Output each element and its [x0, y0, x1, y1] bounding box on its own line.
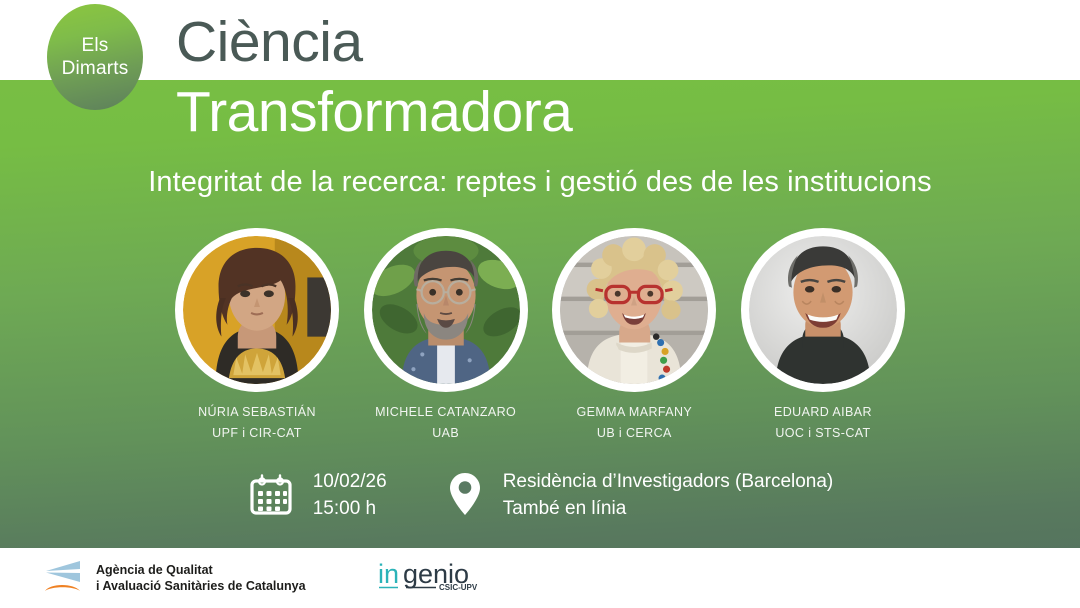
aquas-line-2: i Avaluació Sanitàries de Catalunya: [96, 578, 306, 594]
avatar-ring: [552, 228, 716, 392]
ingenio-sub: CSIC-UPV: [439, 583, 478, 592]
page-title-line-1: Ciència: [176, 10, 363, 74]
event-date-text: 10/02/26 15:00 h: [313, 468, 387, 522]
header-white-band: [0, 0, 1080, 80]
speaker-card: EDUARD AIBAR UOC i STS-CAT: [741, 228, 905, 442]
avatar-ring: [741, 228, 905, 392]
avatar-ring: [175, 228, 339, 392]
portrait-nuria-sebastian: [183, 236, 331, 384]
speaker-org: UOC i STS-CAT: [775, 425, 870, 442]
map-pin-icon: [445, 470, 485, 523]
avatar: [560, 236, 708, 384]
aquas-logo-text: Agència de Qualitat i Avaluació Sanitàri…: [96, 562, 306, 594]
speaker-name: EDUARD AIBAR: [774, 404, 872, 421]
event-time: 15:00 h: [313, 495, 387, 522]
avatar-ring: [364, 228, 528, 392]
event-location-block: Residència d’Investigadors (Barcelona) T…: [445, 468, 834, 523]
aquas-line-1: Agència de Qualitat: [96, 562, 306, 578]
speaker-name: GEMMA MARFANY: [576, 404, 692, 421]
avatar: [372, 236, 520, 384]
aquas-logo-icon: [40, 559, 84, 598]
event-venue: Residència d’Investigadors (Barcelona): [503, 468, 834, 495]
speaker-org: UAB: [432, 425, 459, 442]
calendar-icon: [247, 470, 295, 523]
event-info-row: 10/02/26 15:00 h Residència d’Investigad…: [0, 468, 1080, 523]
badge-line-1: Els: [82, 34, 109, 57]
speaker-name: MICHELE CATANZARO: [375, 404, 516, 421]
ingenio-prefix: in: [378, 559, 399, 589]
ingenio-logo-icon: in genio CSIC-UPV: [376, 556, 480, 596]
speaker-org: UB i CERCA: [597, 425, 672, 442]
portrait-gemma-marfany: [560, 236, 708, 384]
event-poster: Els Dimarts Ciència Transformadora Integ…: [0, 0, 1080, 608]
speaker-list: NÚRIA SEBASTIÁN UPF i CIR-CAT: [175, 228, 905, 442]
aquas-logo: Agència de Qualitat i Avaluació Sanitàri…: [40, 559, 306, 598]
avatar: [749, 236, 897, 384]
els-dimarts-badge: Els Dimarts: [47, 4, 143, 110]
speaker-name: NÚRIA SEBASTIÁN: [198, 404, 316, 421]
speaker-card: NÚRIA SEBASTIÁN UPF i CIR-CAT: [175, 228, 339, 442]
event-location-text: Residència d’Investigadors (Barcelona) T…: [503, 468, 834, 522]
avatar: [183, 236, 331, 384]
page-title-line-2: Transformadora: [176, 80, 572, 144]
event-online-note: També en línia: [503, 495, 834, 522]
portrait-eduard-aibar: [749, 236, 897, 384]
ingenio-logo: in genio CSIC-UPV: [376, 556, 480, 601]
badge-line-2: Dimarts: [62, 57, 129, 80]
page-subtitle: Integritat de la recerca: reptes i gesti…: [0, 164, 1080, 200]
portrait-michele-catanzaro: [372, 236, 520, 384]
speaker-org: UPF i CIR-CAT: [212, 425, 302, 442]
footer-logos: Agència de Qualitat i Avaluació Sanitàri…: [0, 548, 1080, 608]
speaker-card: GEMMA MARFANY UB i CERCA: [552, 228, 716, 442]
event-date: 10/02/26: [313, 468, 387, 495]
speaker-card: MICHELE CATANZARO UAB: [364, 228, 528, 442]
event-date-block: 10/02/26 15:00 h: [247, 468, 387, 523]
